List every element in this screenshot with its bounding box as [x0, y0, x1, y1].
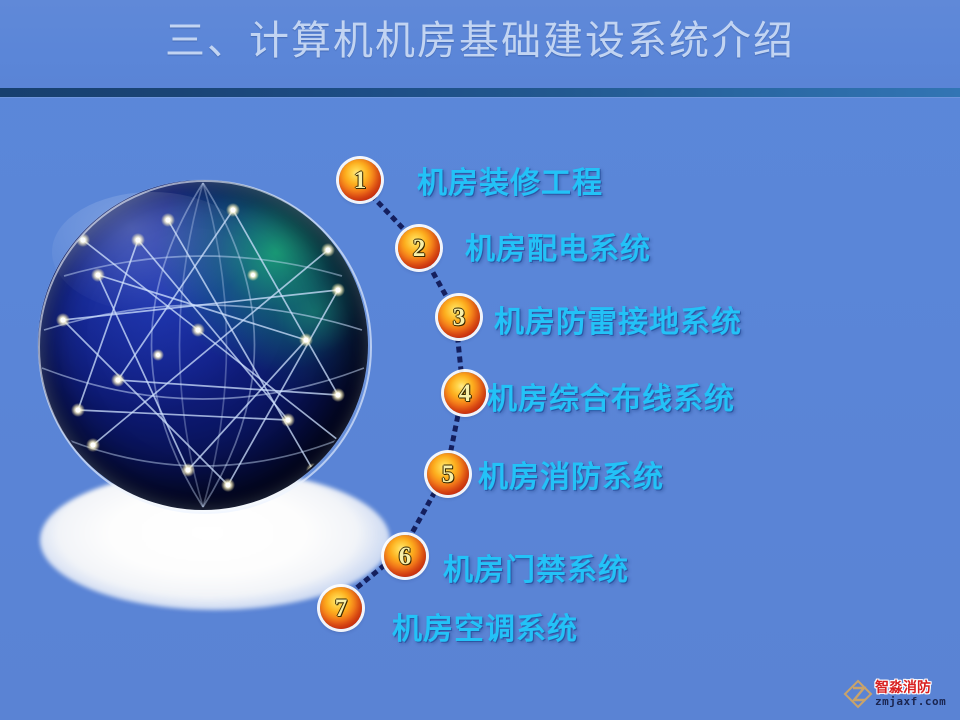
step-badge-number: 6 — [399, 544, 412, 569]
step-label-3[interactable]: 机房防雷接地系统 — [494, 297, 742, 341]
step-badge-number: 2 — [413, 236, 426, 261]
step-label-6[interactable]: 机房门禁系统 — [443, 545, 629, 589]
step-label-7[interactable]: 机房空调系统 — [392, 604, 578, 648]
step-badge-number: 5 — [442, 462, 455, 487]
step-badge-number: 3 — [453, 305, 466, 330]
watermark-brand: 智淼消防 — [875, 681, 946, 695]
step-badge-7[interactable]: 7 — [320, 587, 362, 629]
step-label-5[interactable]: 机房消防系统 — [478, 452, 664, 496]
step-label-1[interactable]: 机房装修工程 — [417, 158, 603, 202]
step-label-4[interactable]: 机房综合布线系统 — [487, 374, 735, 418]
step-badge-2[interactable]: 2 — [398, 227, 440, 269]
step-label-2[interactable]: 机房配电系统 — [465, 224, 651, 268]
page-title: 三、计算机机房基础建设系统介绍 — [0, 8, 960, 66]
globe-network-mesh — [38, 180, 368, 510]
step-badge-3[interactable]: 3 — [438, 296, 480, 338]
step-badge-4[interactable]: 4 — [444, 372, 486, 414]
step-badge-number: 1 — [354, 168, 367, 193]
step-badge-number: 7 — [335, 596, 348, 621]
step-badge-number: 4 — [459, 381, 472, 406]
watermark-url: zmjaxf.com — [875, 696, 946, 707]
slide-canvas: 三、计算机机房基础建设系统介绍 — [0, 0, 960, 720]
watermark: 智淼消防 zmjaxf.com — [843, 677, 955, 711]
step-badge-5[interactable]: 5 — [427, 453, 469, 495]
step-badge-6[interactable]: 6 — [384, 535, 426, 577]
network-globe-graphic — [38, 170, 388, 620]
watermark-text: 智淼消防 zmjaxf.com — [875, 681, 946, 707]
diamond-z-logo-icon — [843, 679, 873, 709]
step-badge-1[interactable]: 1 — [339, 159, 381, 201]
header-divider-rule — [0, 88, 960, 97]
